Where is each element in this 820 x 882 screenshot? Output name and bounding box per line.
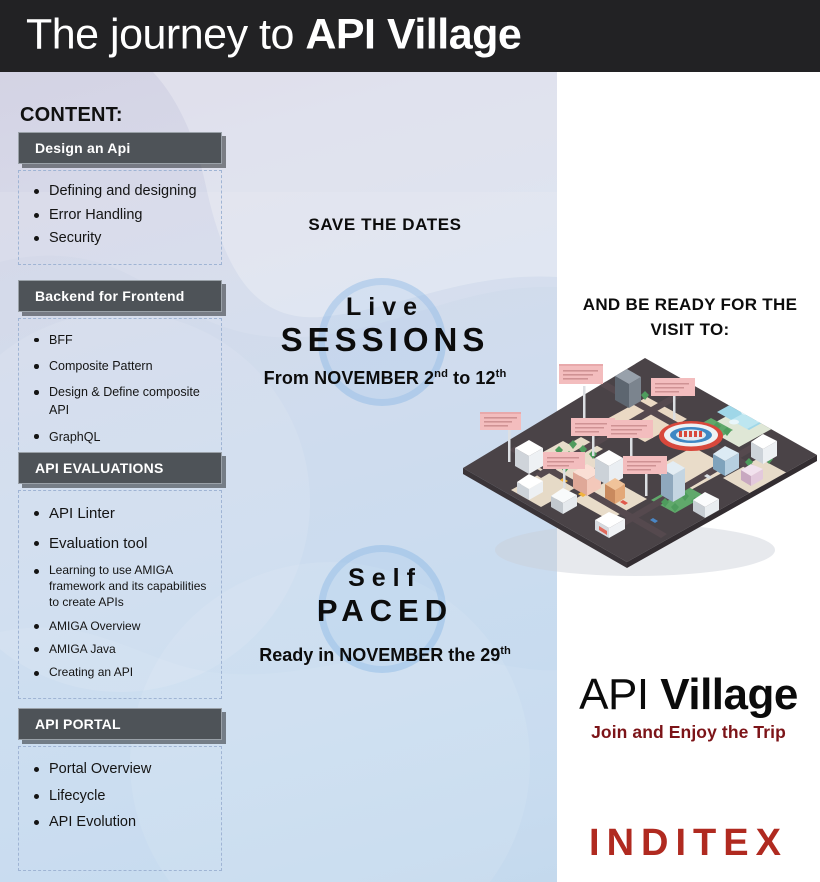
- card-api-portal: API PORTAL Portal Overview Lifecycle API…: [18, 708, 222, 871]
- card-title: Backend for Frontend: [35, 288, 184, 304]
- card-body-api-evaluations: API Linter Evaluation tool Learning to u…: [18, 490, 222, 699]
- self-paced-line2: PACED: [240, 592, 530, 629]
- live-date-ordinal-1: nd: [434, 368, 448, 380]
- card-header-backend-for-frontend[interactable]: Backend for Frontend: [18, 280, 222, 312]
- page-title-light: The journey to: [26, 11, 305, 59]
- card-list: API Linter Evaluation tool Learning to u…: [27, 503, 213, 680]
- brand-block: API Village Join and Enjoy the Trip: [557, 672, 820, 743]
- live-sessions-line1: Live: [240, 294, 530, 321]
- card-header-design-an-api[interactable]: Design an Api: [18, 132, 222, 164]
- poster: The journey to API Village CONTENT: Desi…: [0, 0, 820, 882]
- card-design-an-api: Design an Api Defining and designing Err…: [18, 132, 222, 265]
- card-title: API PORTAL: [35, 716, 121, 732]
- list-item: Design & Define composite API: [27, 383, 213, 419]
- card-header-api-evaluations[interactable]: API EVALUATIONS: [18, 452, 222, 484]
- self-paced-date: Ready in NOVEMBER the 29th: [230, 645, 540, 666]
- page-title-bold: API Village: [305, 11, 521, 59]
- paced-date-ordinal: th: [500, 645, 511, 657]
- list-item: BFF: [27, 331, 213, 349]
- list-item: Security: [27, 228, 213, 249]
- card-body-backend-for-frontend: BFF Composite Pattern Design & Define co…: [18, 318, 222, 470]
- card-body-design-an-api: Defining and designing Error Handling Se…: [18, 170, 222, 265]
- list-item: API Evolution: [27, 812, 213, 833]
- card-list: Defining and designing Error Handling Se…: [27, 181, 213, 249]
- brand-name: API Village: [557, 672, 820, 718]
- save-the-dates-heading: SAVE THE DATES: [240, 215, 530, 235]
- paced-date-prefix: Ready in NOVEMBER the 29: [259, 645, 500, 665]
- list-item: GraphQL: [27, 428, 213, 446]
- card-list: BFF Composite Pattern Design & Define co…: [27, 331, 213, 446]
- content-heading: CONTENT:: [20, 104, 123, 127]
- page-title: The journey to API Village: [26, 14, 521, 57]
- brand-tagline: Join and Enjoy the Trip: [557, 722, 820, 743]
- list-item: Defining and designing: [27, 181, 213, 202]
- brand-name-light: API: [579, 670, 660, 719]
- list-item: Error Handling: [27, 205, 213, 226]
- inditex-logo: INDITEX: [557, 822, 820, 865]
- card-list: Portal Overview Lifecycle API Evolution: [27, 759, 213, 833]
- list-item: Lifecycle: [27, 786, 213, 807]
- list-item: Portal Overview: [27, 759, 213, 780]
- card-header-api-portal[interactable]: API PORTAL: [18, 708, 222, 740]
- brand-name-bold: Village: [660, 670, 798, 719]
- card-body-api-portal: Portal Overview Lifecycle API Evolution: [18, 746, 222, 871]
- card-title: Design an Api: [35, 140, 130, 156]
- list-item: Composite Pattern: [27, 357, 213, 375]
- list-item: AMIGA Overview: [27, 618, 213, 634]
- isometric-village-illustration: [455, 350, 820, 585]
- header-bar: The journey to API Village: [0, 0, 820, 72]
- visit-heading: AND BE READY FOR THE VISIT TO:: [570, 293, 810, 342]
- list-item: API Linter: [27, 503, 213, 526]
- list-item: Evaluation tool: [27, 533, 213, 556]
- list-item: Learning to use AMIGA framework and its …: [27, 562, 213, 611]
- list-item: AMIGA Java: [27, 641, 213, 657]
- card-title: API EVALUATIONS: [35, 460, 164, 476]
- card-backend-for-frontend: Backend for Frontend BFF Composite Patte…: [18, 280, 222, 470]
- list-item: Creating an API: [27, 664, 213, 680]
- live-date-prefix: From NOVEMBER 2: [264, 368, 435, 388]
- card-api-evaluations: API EVALUATIONS API Linter Evaluation to…: [18, 452, 222, 699]
